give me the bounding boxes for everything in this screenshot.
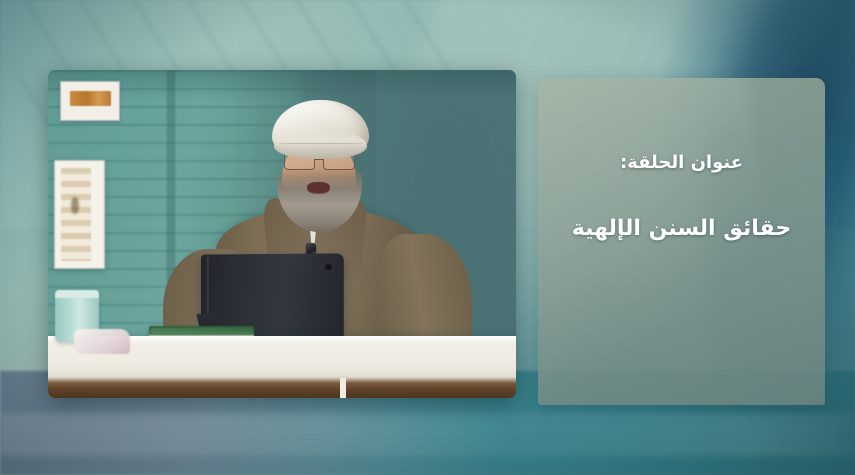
tablet-camera-icon bbox=[323, 262, 333, 271]
mouth bbox=[307, 182, 330, 194]
framed-artwork-icon-small bbox=[60, 81, 120, 121]
napkin bbox=[74, 329, 130, 354]
episode-label: عنوان الحلقة: bbox=[620, 150, 743, 175]
studio-video-frame[interactable] bbox=[48, 70, 516, 398]
turban-wrap bbox=[274, 129, 367, 159]
screen-root: عنوان الحلقة: حقائق السنن الإلهية bbox=[0, 0, 855, 475]
desk-seam bbox=[340, 378, 346, 398]
episode-title: حقائق السنن الإلهية bbox=[572, 214, 792, 245]
framed-artwork-icon-tall bbox=[54, 160, 105, 269]
panel-text-stack: عنوان الحلقة: حقائق السنن الإلهية bbox=[538, 78, 825, 405]
episode-title-panel: عنوان الحلقة: حقائق السنن الإلهية bbox=[538, 78, 825, 405]
